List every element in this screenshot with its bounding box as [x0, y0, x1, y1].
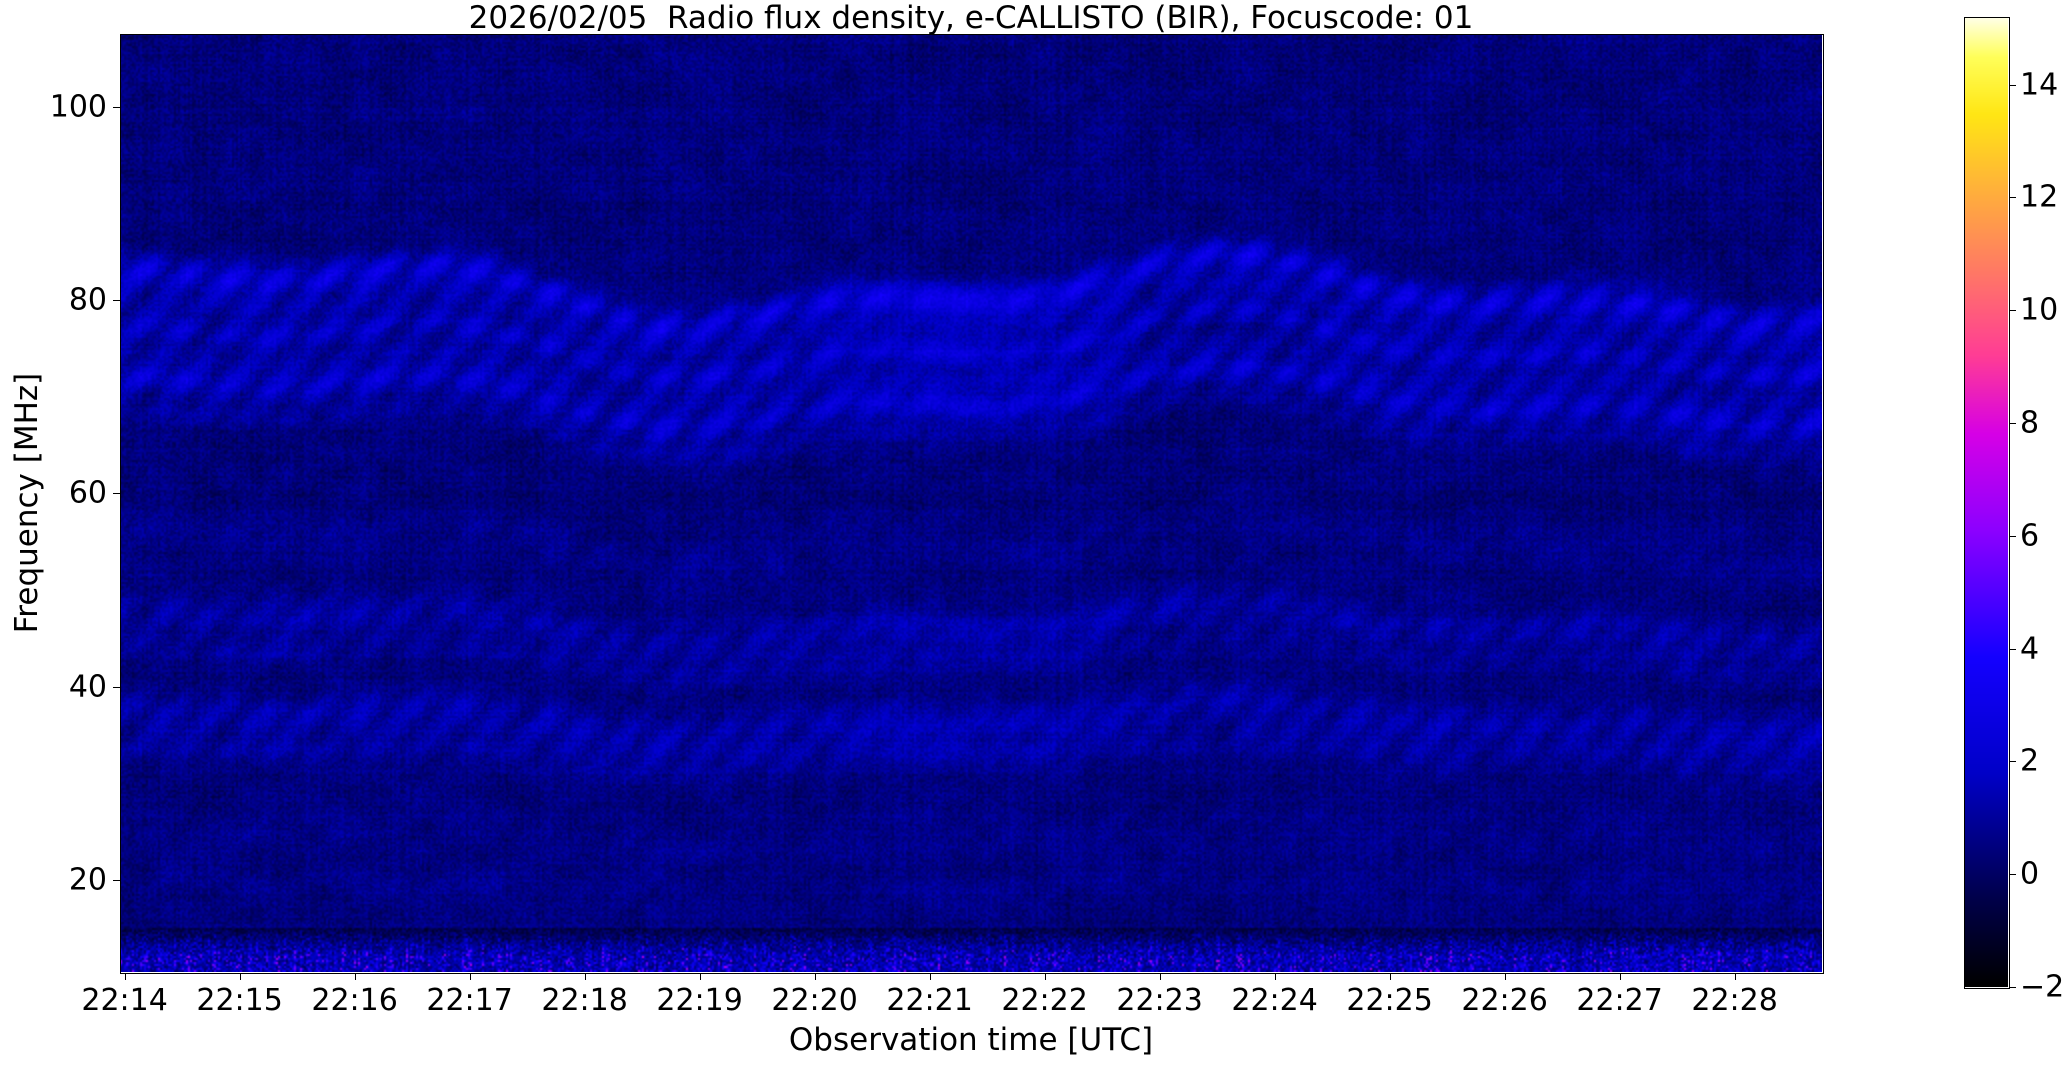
colorbar-tick-mark	[2009, 649, 2016, 650]
x-tick-mark	[1505, 973, 1506, 980]
colorbar-tick-label: 14	[2020, 67, 2058, 102]
x-tick-mark	[1620, 973, 1621, 980]
x-tick-mark	[1390, 973, 1391, 980]
colorbar-tick-label: 10	[2020, 293, 2058, 328]
colorbar-tick-label: 2	[2020, 744, 2039, 779]
x-tick-label: 22:17	[426, 983, 512, 1018]
x-tick-label: 22:18	[541, 983, 627, 1018]
colorbar-tick-label: 12	[2020, 180, 2058, 215]
y-tick-mark	[113, 493, 120, 494]
x-tick-label: 22:27	[1576, 983, 1662, 1018]
x-tick-mark	[815, 973, 816, 980]
spectrogram-axes[interactable]	[120, 34, 1822, 972]
colorbar-tick-label: −2	[2020, 970, 2064, 1005]
x-tick-label: 22:21	[886, 983, 972, 1018]
x-tick-mark	[240, 973, 241, 980]
x-tick-label: 22:22	[1001, 983, 1087, 1018]
x-tick-mark	[470, 973, 471, 980]
colorbar-tick-label: 8	[2020, 406, 2039, 441]
y-tick-label: 80	[69, 282, 107, 317]
y-tick-mark	[113, 687, 120, 688]
x-tick-mark	[1160, 973, 1161, 980]
x-tick-label: 22:20	[771, 983, 857, 1018]
x-axis-label: Observation time [UTC]	[120, 1022, 1822, 1058]
x-tick-label: 22:14	[81, 983, 167, 1018]
colorbar-tick-mark	[2009, 85, 2016, 86]
colorbar-tick-label: 4	[2020, 631, 2039, 666]
colorbar-tick-mark	[2009, 761, 2016, 762]
colorbar-tick-label: 0	[2020, 857, 2039, 892]
x-tick-mark	[1275, 973, 1276, 980]
y-tick-label: 20	[69, 863, 107, 898]
colorbar-tick-mark	[2009, 987, 2016, 988]
spectrogram-image	[120, 34, 1822, 972]
x-tick-label: 22:24	[1231, 983, 1317, 1018]
colorbar-tick-mark	[2009, 197, 2016, 198]
x-tick-label: 22:16	[311, 983, 397, 1018]
x-tick-mark	[700, 973, 701, 980]
y-axis-label: Frequency [MHz]	[10, 34, 44, 972]
y-tick-label: 100	[50, 89, 107, 124]
x-tick-mark	[1735, 973, 1736, 980]
figure-canvas: 2026/02/05 Radio flux density, e-CALLIST…	[0, 0, 2066, 1067]
y-tick-mark	[113, 300, 120, 301]
colorbar-tick-mark	[2009, 423, 2016, 424]
x-tick-mark	[1045, 973, 1046, 980]
x-tick-mark	[355, 973, 356, 980]
y-tick-label: 40	[69, 669, 107, 704]
y-tick-mark	[113, 880, 120, 881]
x-tick-label: 22:28	[1691, 983, 1777, 1018]
colorbar-tick-mark	[2009, 874, 2016, 875]
x-tick-mark	[930, 973, 931, 980]
colorbar-tick-mark	[2009, 536, 2016, 537]
x-tick-label: 22:15	[196, 983, 282, 1018]
x-tick-mark	[125, 973, 126, 980]
x-tick-label: 22:23	[1116, 983, 1202, 1018]
x-tick-label: 22:25	[1346, 983, 1432, 1018]
colorbar-gradient	[1964, 17, 2008, 987]
colorbar-tick-mark	[2009, 310, 2016, 311]
x-tick-mark	[585, 973, 586, 980]
colorbar[interactable]	[1964, 17, 2008, 987]
page-title: 2026/02/05 Radio flux density, e-CALLIST…	[120, 1, 1822, 35]
x-tick-label: 22:19	[656, 983, 742, 1018]
x-tick-label: 22:26	[1461, 983, 1547, 1018]
y-tick-mark	[113, 107, 120, 108]
colorbar-tick-label: 6	[2020, 518, 2039, 553]
y-tick-label: 60	[69, 476, 107, 511]
